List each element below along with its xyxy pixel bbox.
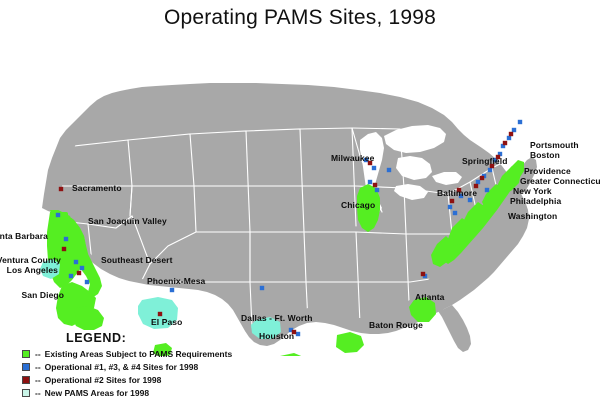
page-title: Operating PAMS Sites, 1998 xyxy=(0,6,600,30)
site-marker-operational-2 xyxy=(59,187,63,191)
site-marker-operational-2 xyxy=(77,271,81,275)
label-los-angeles: Los Angeles xyxy=(7,265,58,275)
site-marker-operational-134 xyxy=(448,205,452,209)
site-marker-operational-134 xyxy=(69,274,73,278)
label-baton-rouge: Baton Rouge xyxy=(369,320,423,330)
legend-dash: -- xyxy=(35,388,41,398)
label-washington: Washington xyxy=(508,211,557,221)
site-marker-operational-134 xyxy=(375,188,379,192)
site-marker-operational-2 xyxy=(480,176,484,180)
site-marker-operational-134 xyxy=(476,180,480,184)
operational-2-swatch xyxy=(22,376,30,384)
legend-heading: LEGEND: xyxy=(66,331,126,345)
site-marker-operational-134 xyxy=(372,166,376,170)
site-marker-operational-134 xyxy=(85,280,89,284)
label-san-joaquin-valley: San Joaquin Valley xyxy=(88,216,167,226)
site-marker-operational-134 xyxy=(368,180,372,184)
site-marker-operational-134 xyxy=(56,213,60,217)
operational-134-swatch xyxy=(22,363,30,371)
label-phoenix-mesa: Phoenix-Mesa xyxy=(147,276,205,286)
label-ventura-county: Ventura County xyxy=(0,255,61,265)
site-marker-operational-134 xyxy=(468,198,472,202)
site-marker-operational-2 xyxy=(421,272,425,276)
map-stage: SacramentoSan Joaquin ValleySanta Barbar… xyxy=(0,36,600,356)
site-marker-operational-134 xyxy=(64,237,68,241)
legend-item-label: Operational #2 Sites for 1998 xyxy=(45,375,162,385)
site-marker-operational-134 xyxy=(260,286,264,290)
label-providence: Providence xyxy=(524,166,571,176)
legend-item-label: Existing Areas Subject to PAMS Requireme… xyxy=(45,349,233,359)
label-dallas-ft-worth: Dallas - Ft. Worth xyxy=(241,313,313,323)
site-marker-operational-2 xyxy=(509,132,513,136)
existing-areas-swatch xyxy=(22,350,30,358)
label-chicago: Chicago xyxy=(341,200,375,210)
legend-dash: -- xyxy=(35,349,41,359)
legend-item: --Existing Areas Subject to PAMS Require… xyxy=(14,348,274,359)
site-marker-operational-134 xyxy=(488,168,492,172)
site-marker-operational-134 xyxy=(485,188,489,192)
site-marker-operational-134 xyxy=(453,211,457,215)
legend-item-label: Operational #1, #3, & #4 Sites for 1998 xyxy=(45,362,199,372)
area-houston xyxy=(275,353,310,356)
label-sacramento: Sacramento xyxy=(72,183,122,193)
legend-dash: -- xyxy=(35,375,41,385)
site-marker-operational-2 xyxy=(373,183,377,187)
label-philadelphia: Philadelphia xyxy=(510,196,561,206)
area-baton-rouge xyxy=(336,332,364,353)
land-florida xyxy=(438,305,471,352)
legend-rows: --Existing Areas Subject to PAMS Require… xyxy=(14,348,274,400)
site-marker-operational-134 xyxy=(512,128,516,132)
legend: LEGEND: --Existing Areas Subject to PAMS… xyxy=(14,331,274,397)
site-marker-operational-2 xyxy=(62,247,66,251)
legend-item-label: New PAMS Areas for 1998 xyxy=(45,388,149,398)
site-marker-operational-134 xyxy=(296,332,300,336)
legend-item: --Operational #1, #3, & #4 Sites for 199… xyxy=(14,361,274,372)
label-atlanta: Atlanta xyxy=(415,292,445,302)
label-santa-barbara: Santa Barbara xyxy=(0,231,48,241)
site-marker-operational-134 xyxy=(80,266,84,270)
legend-item: --Operational #2 Sites for 1998 xyxy=(14,374,274,385)
site-marker-operational-134 xyxy=(387,168,391,172)
label-new-york: New York xyxy=(513,186,552,196)
label-boston: Boston xyxy=(530,150,560,160)
site-marker-operational-2 xyxy=(450,199,454,203)
site-marker-operational-134 xyxy=(74,260,78,264)
site-marker-operational-134 xyxy=(170,288,174,292)
pams-map-page: Operating PAMS Sites, 1998 xyxy=(0,0,600,402)
site-marker-operational-2 xyxy=(503,141,507,145)
legend-dash: -- xyxy=(35,362,41,372)
site-marker-operational-134 xyxy=(518,120,522,124)
label-springfield: Springfield xyxy=(462,156,508,166)
legend-item: --New PAMS Areas for 1998 xyxy=(14,387,274,398)
area-southeast-desert-green xyxy=(72,306,104,330)
label-milwaukee: Milwaukee xyxy=(331,153,374,163)
label-baltimore: Baltimore xyxy=(437,188,477,198)
label-portsmouth: Portsmouth xyxy=(530,140,579,150)
label-san-diego: San Diego xyxy=(22,290,64,300)
label-greater-connecticut: Greater Connecticut xyxy=(520,176,600,186)
site-marker-operational-2 xyxy=(158,312,162,316)
new-pams-areas-swatch xyxy=(22,389,30,397)
site-marker-operational-134 xyxy=(507,136,511,140)
label-southeast-desert: Southeast Desert xyxy=(101,255,173,265)
label-el-paso: El Paso xyxy=(151,317,182,327)
